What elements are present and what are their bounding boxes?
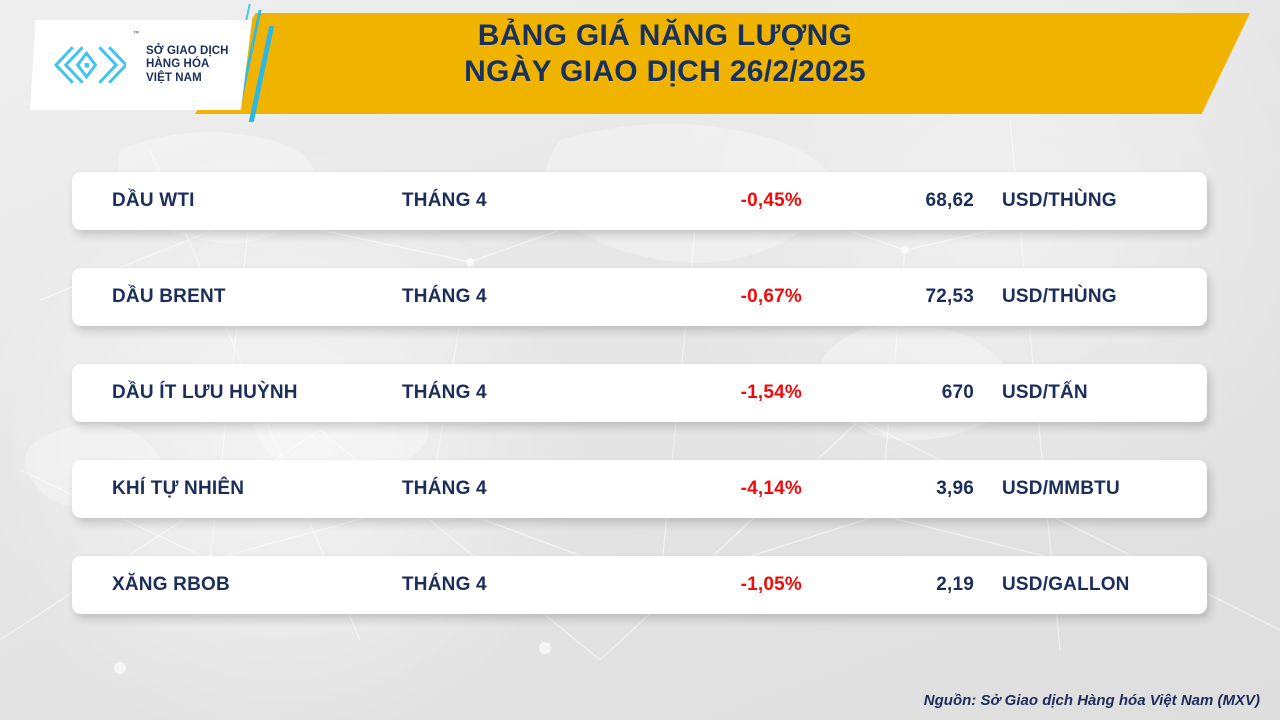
price-value: 3,96 <box>802 478 1002 500</box>
commodity-name: DẦU WTI <box>72 190 402 212</box>
percent-change: -4,14% <box>572 478 802 500</box>
title-line-1: BẢNG GIÁ NĂNG LƯỢNG <box>230 18 1100 54</box>
table-row[interactable]: DẦU BRENT THÁNG 4 -0,67% 72,53 USD/THÙNG <box>72 268 1207 326</box>
price-unit: USD/GALLON <box>1002 574 1207 596</box>
percent-change: -1,54% <box>572 382 802 404</box>
title-line-2: NGÀY GIAO DỊCH 26/2/2025 <box>230 54 1100 90</box>
contract-month: THÁNG 4 <box>402 478 572 500</box>
contract-month: THÁNG 4 <box>402 286 572 308</box>
commodity-name: DẦU BRENT <box>72 286 402 308</box>
mxv-monogram-icon <box>52 43 126 87</box>
commodity-name: DẦU ÍT LƯU HUỲNH <box>72 382 402 404</box>
price-value: 68,62 <box>802 190 1002 212</box>
price-value: 670 <box>802 382 1002 404</box>
percent-change: -0,45% <box>572 190 802 212</box>
price-value: 2,19 <box>802 574 1002 596</box>
price-unit: USD/MMBTU <box>1002 478 1207 500</box>
logo: ™ SỞ GIAO DỊCH HÀNG HÓA VIỆT NAM <box>30 20 252 110</box>
trademark-icon: ™ <box>133 31 139 37</box>
commodity-name: KHÍ TỰ NHIÊN <box>72 478 402 500</box>
page-title: BẢNG GIÁ NĂNG LƯỢNG NGÀY GIAO DỊCH 26/2/… <box>230 18 1100 90</box>
price-unit: USD/TẤN <box>1002 382 1207 404</box>
price-value: 72,53 <box>802 286 1002 308</box>
logo-text: SỞ GIAO DỊCH HÀNG HÓA VIỆT NAM <box>146 45 229 86</box>
contract-month: THÁNG 4 <box>402 574 572 596</box>
contract-month: THÁNG 4 <box>402 382 572 404</box>
table-row[interactable]: KHÍ TỰ NHIÊN THÁNG 4 -4,14% 3,96 USD/MMB… <box>72 460 1207 518</box>
table-row[interactable]: DẦU WTI THÁNG 4 -0,45% 68,62 USD/THÙNG <box>72 172 1207 230</box>
price-table: DẦU WTI THÁNG 4 -0,45% 68,62 USD/THÙNG D… <box>0 172 1280 652</box>
percent-change: -1,05% <box>572 574 802 596</box>
table-row[interactable]: DẦU ÍT LƯU HUỲNH THÁNG 4 -1,54% 670 USD/… <box>72 364 1207 422</box>
commodity-name: XĂNG RBOB <box>72 574 402 596</box>
percent-change: -0,67% <box>572 286 802 308</box>
contract-month: THÁNG 4 <box>402 190 572 212</box>
price-unit: USD/THÙNG <box>1002 190 1207 212</box>
source-note: Nguồn: Sở Giao dịch Hàng hóa Việt Nam (M… <box>924 692 1260 709</box>
price-unit: USD/THÙNG <box>1002 286 1207 308</box>
logo-line-3: VIỆT NAM <box>146 72 229 86</box>
header: BẢNG GIÁ NĂNG LƯỢNG NGÀY GIAO DỊCH 26/2/… <box>0 0 1280 125</box>
logo-line-2: HÀNG HÓA <box>146 58 229 72</box>
logo-line-1: SỞ GIAO DỊCH <box>146 45 229 59</box>
table-row[interactable]: XĂNG RBOB THÁNG 4 -1,05% 2,19 USD/GALLON <box>72 556 1207 614</box>
